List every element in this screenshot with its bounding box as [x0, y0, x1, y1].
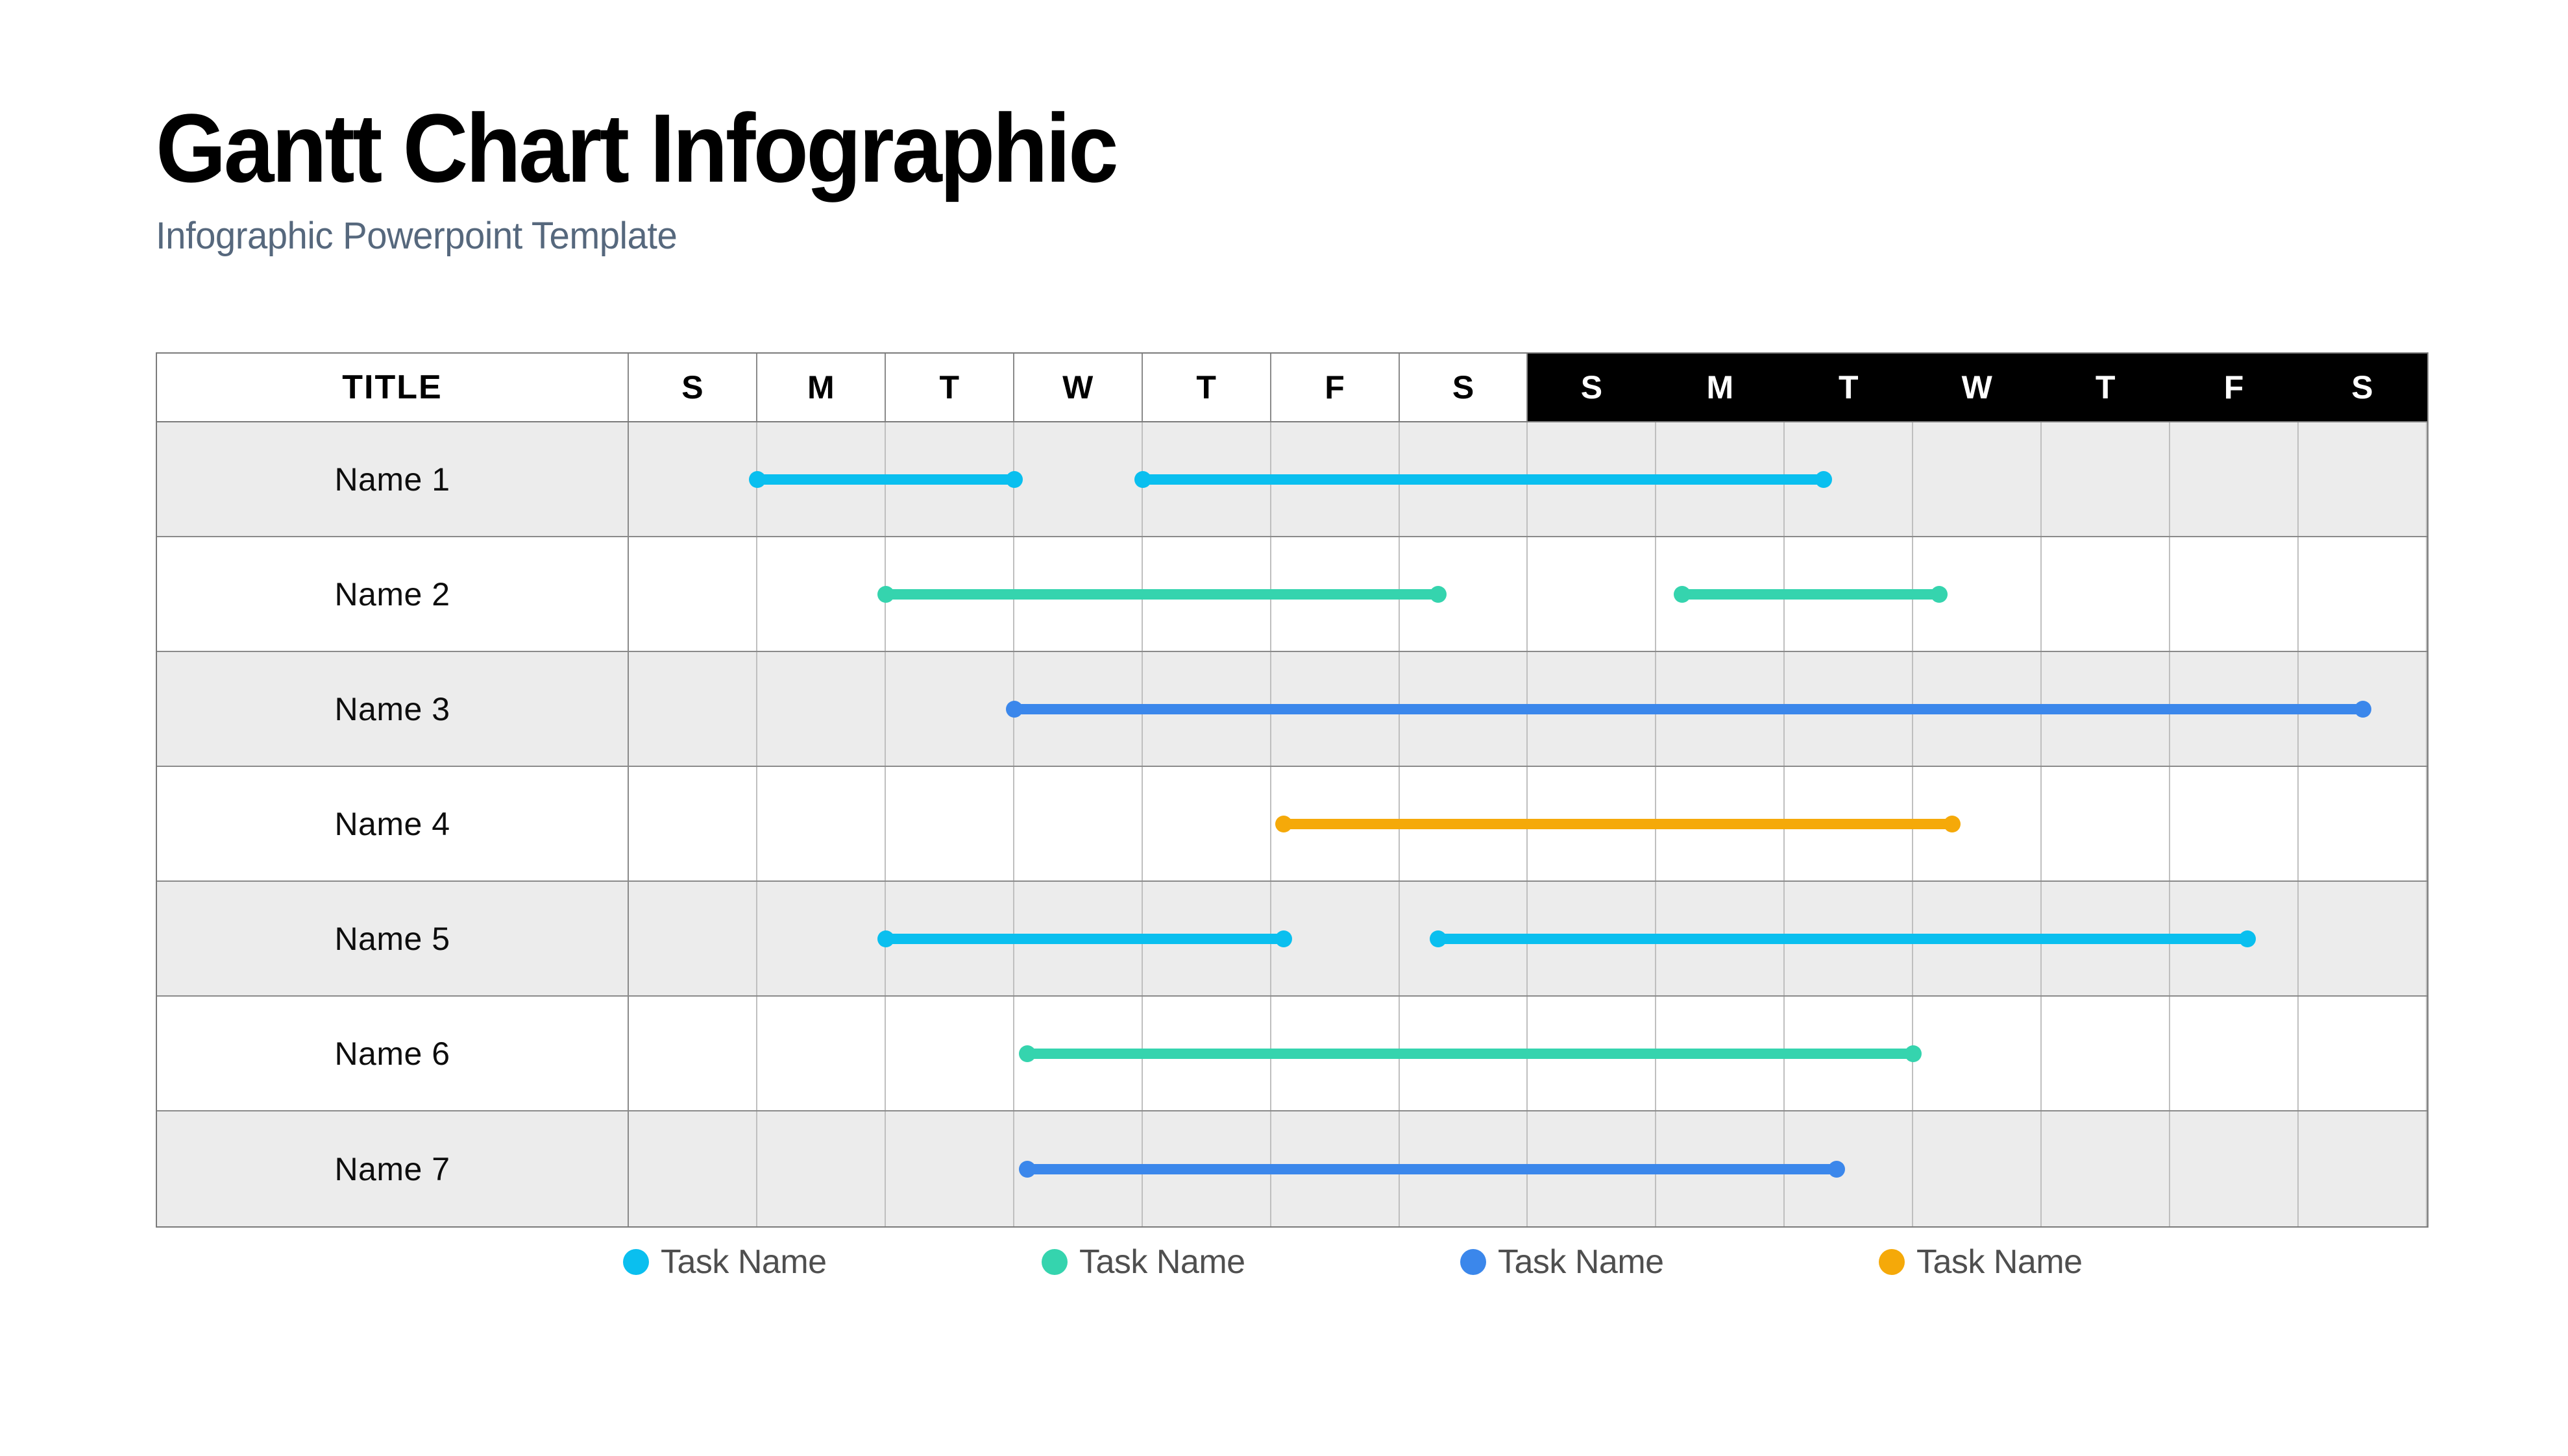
gantt-row: Name 1: [157, 422, 2427, 537]
page-title: Gantt Chart Infographic: [156, 97, 2281, 200]
track-cell[interactable]: [1913, 767, 2042, 880]
track-cell[interactable]: [1400, 1111, 1528, 1226]
track-cell[interactable]: [1785, 422, 1913, 536]
track-cell[interactable]: [1528, 422, 1656, 536]
gantt-chart-table: TITLE SMTWTFSSMTWTFS Name 1Name 2Name 3N…: [156, 352, 2428, 1228]
legend-dot-icon: [1460, 1249, 1486, 1275]
track-cell[interactable]: [886, 997, 1014, 1110]
track-cell[interactable]: [1014, 652, 1143, 766]
track-cell[interactable]: [1913, 1111, 2042, 1226]
track-cell[interactable]: [2170, 1111, 2299, 1226]
row-track: [629, 537, 2427, 651]
track-cell[interactable]: [1913, 422, 2042, 536]
track-cell[interactable]: [629, 652, 757, 766]
track-cell[interactable]: [757, 997, 886, 1110]
track-cell[interactable]: [2170, 882, 2299, 995]
track-cell[interactable]: [629, 882, 757, 995]
track-cell[interactable]: [2042, 767, 2170, 880]
track-cell[interactable]: [2170, 537, 2299, 651]
track-cell[interactable]: [1656, 537, 1785, 651]
track-cell[interactable]: [1271, 997, 1400, 1110]
track-cell[interactable]: [2042, 537, 2170, 651]
legend-label: Task Name: [1916, 1243, 2083, 1281]
track-cell[interactable]: [2042, 652, 2170, 766]
title-column-header: TITLE: [157, 354, 629, 421]
track-cell[interactable]: [1143, 767, 1271, 880]
page-header: Gantt Chart Infographic Infographic Powe…: [156, 97, 2440, 258]
track-cell[interactable]: [2042, 422, 2170, 536]
track-cell[interactable]: [886, 1111, 1014, 1226]
day-header-3[interactable]: W: [1014, 354, 1143, 421]
track-cell[interactable]: [629, 997, 757, 1110]
legend-item-3[interactable]: Task Name: [1879, 1243, 2297, 1281]
track-cell[interactable]: [1014, 882, 1143, 995]
day-header-8[interactable]: M: [1656, 354, 1785, 421]
track-cell[interactable]: [757, 767, 886, 880]
row-label-0[interactable]: Name 1: [157, 422, 629, 536]
track-cell[interactable]: [1143, 422, 1271, 536]
track-cell[interactable]: [886, 767, 1014, 880]
track-cell[interactable]: [2042, 882, 2170, 995]
day-header-0[interactable]: S: [629, 354, 757, 421]
day-header-11[interactable]: T: [2042, 354, 2170, 421]
track-cell[interactable]: [1271, 422, 1400, 536]
track-cell[interactable]: [1528, 537, 1656, 651]
track-cell[interactable]: [886, 537, 1014, 651]
legend-item-1[interactable]: Task Name: [1042, 1243, 1460, 1281]
gantt-row: Name 6: [157, 997, 2427, 1111]
day-header-13[interactable]: S: [2299, 354, 2427, 421]
gantt-body: Name 1Name 2Name 3Name 4Name 5Name 6Name…: [157, 422, 2427, 1226]
row-label-3[interactable]: Name 4: [157, 767, 629, 880]
track-cell[interactable]: [1014, 997, 1143, 1110]
row-label-5[interactable]: Name 6: [157, 997, 629, 1110]
track-cell[interactable]: [1400, 652, 1528, 766]
track-cell[interactable]: [629, 767, 757, 880]
track-cell[interactable]: [1014, 767, 1143, 880]
legend-label: Task Name: [661, 1243, 827, 1281]
track-cell[interactable]: [1271, 652, 1400, 766]
track-cell[interactable]: [1656, 422, 1785, 536]
track-cell[interactable]: [1400, 997, 1528, 1110]
track-cell[interactable]: [1528, 767, 1656, 880]
track-cell[interactable]: [2299, 537, 2427, 651]
track-cell[interactable]: [1400, 767, 1528, 880]
legend: Task NameTask NameTask NameTask Name: [623, 1243, 2297, 1281]
track-cell[interactable]: [1143, 652, 1271, 766]
row-label-1[interactable]: Name 2: [157, 537, 629, 651]
track-cell[interactable]: [2299, 422, 2427, 536]
track-cell[interactable]: [2170, 422, 2299, 536]
day-header-5[interactable]: F: [1271, 354, 1400, 421]
track-cell[interactable]: [2299, 997, 2427, 1110]
track-cell[interactable]: [1913, 997, 2042, 1110]
track-cell[interactable]: [757, 537, 886, 651]
day-header-10[interactable]: W: [1913, 354, 2042, 421]
track-cell[interactable]: [1656, 767, 1785, 880]
track-cell[interactable]: [1400, 422, 1528, 536]
track-cell[interactable]: [886, 652, 1014, 766]
day-header-7[interactable]: S: [1528, 354, 1656, 421]
row-track: [629, 422, 2427, 536]
track-cell[interactable]: [629, 422, 757, 536]
page-subtitle: Infographic Powerpoint Template: [156, 214, 2371, 258]
gantt-row: Name 4: [157, 767, 2427, 882]
row-label-6[interactable]: Name 7: [157, 1111, 629, 1226]
track-cell[interactable]: [1913, 652, 2042, 766]
track-cell[interactable]: [757, 1111, 886, 1226]
legend-item-2[interactable]: Task Name: [1460, 1243, 1879, 1281]
track-cell[interactable]: [2170, 767, 2299, 880]
day-header-2[interactable]: T: [886, 354, 1014, 421]
track-cell[interactable]: [1143, 537, 1271, 651]
legend-label: Task Name: [1079, 1243, 1245, 1281]
track-cell[interactable]: [1143, 882, 1271, 995]
day-header-1[interactable]: M: [757, 354, 886, 421]
track-cell[interactable]: [1785, 997, 1913, 1110]
track-cell[interactable]: [1785, 1111, 1913, 1226]
track-cell[interactable]: [1656, 1111, 1785, 1226]
gantt-row: Name 3: [157, 652, 2427, 767]
track-cell[interactable]: [629, 1111, 757, 1226]
track-cell[interactable]: [757, 652, 886, 766]
track-cell[interactable]: [1656, 997, 1785, 1110]
legend-label: Task Name: [1498, 1243, 1664, 1281]
track-cell[interactable]: [2299, 882, 2427, 995]
row-track: [629, 997, 2427, 1110]
day-header-6[interactable]: S: [1400, 354, 1528, 421]
gantt-row: Name 5: [157, 882, 2427, 997]
track-cell[interactable]: [2299, 1111, 2427, 1226]
legend-item-0[interactable]: Task Name: [623, 1243, 1042, 1281]
track-cell[interactable]: [2042, 997, 2170, 1110]
day-header-group: SMTWTFSSMTWTFS: [629, 354, 2427, 421]
legend-dot-icon: [623, 1249, 649, 1275]
track-cell[interactable]: [1014, 1111, 1143, 1226]
row-track: [629, 767, 2427, 880]
row-track: [629, 652, 2427, 766]
track-cell[interactable]: [629, 537, 757, 651]
track-cell[interactable]: [757, 882, 886, 995]
gantt-header-row: TITLE SMTWTFSSMTWTFS: [157, 354, 2427, 422]
track-cell[interactable]: [1143, 1111, 1271, 1226]
track-cell[interactable]: [2170, 997, 2299, 1110]
row-track: [629, 1111, 2427, 1226]
track-cell[interactable]: [1656, 652, 1785, 766]
track-cell[interactable]: [1400, 882, 1528, 995]
row-label-2[interactable]: Name 3: [157, 652, 629, 766]
track-cell[interactable]: [1528, 882, 1656, 995]
track-cell[interactable]: [1271, 882, 1400, 995]
track-cell[interactable]: [1785, 652, 1913, 766]
track-cell[interactable]: [1913, 882, 2042, 995]
row-track: [629, 882, 2427, 995]
gantt-row: Name 2: [157, 537, 2427, 652]
track-cell[interactable]: [757, 422, 886, 536]
track-cell[interactable]: [1528, 997, 1656, 1110]
track-cell[interactable]: [1656, 882, 1785, 995]
track-cell[interactable]: [1014, 422, 1143, 536]
track-cell[interactable]: [1400, 537, 1528, 651]
track-cell[interactable]: [1785, 537, 1913, 651]
row-label-4[interactable]: Name 5: [157, 882, 629, 995]
legend-dot-icon: [1879, 1249, 1905, 1275]
track-cell[interactable]: [1913, 537, 2042, 651]
track-cell[interactable]: [1785, 882, 1913, 995]
track-cell[interactable]: [1528, 652, 1656, 766]
track-cell[interactable]: [886, 882, 1014, 995]
track-cell[interactable]: [2170, 652, 2299, 766]
track-cell[interactable]: [2299, 767, 2427, 880]
track-cell[interactable]: [1785, 767, 1913, 880]
gantt-row: Name 7: [157, 1111, 2427, 1226]
track-cell[interactable]: [1271, 537, 1400, 651]
day-header-12[interactable]: F: [2170, 354, 2299, 421]
day-header-9[interactable]: T: [1785, 354, 1913, 421]
track-cell[interactable]: [1143, 997, 1271, 1110]
track-cell[interactable]: [886, 422, 1014, 536]
track-cell[interactable]: [1528, 1111, 1656, 1226]
legend-dot-icon: [1042, 1249, 1068, 1275]
track-cell[interactable]: [1271, 767, 1400, 880]
track-cell[interactable]: [1014, 537, 1143, 651]
track-cell[interactable]: [2299, 652, 2427, 766]
day-header-4[interactable]: T: [1143, 354, 1271, 421]
track-cell[interactable]: [1271, 1111, 1400, 1226]
track-cell[interactable]: [2042, 1111, 2170, 1226]
